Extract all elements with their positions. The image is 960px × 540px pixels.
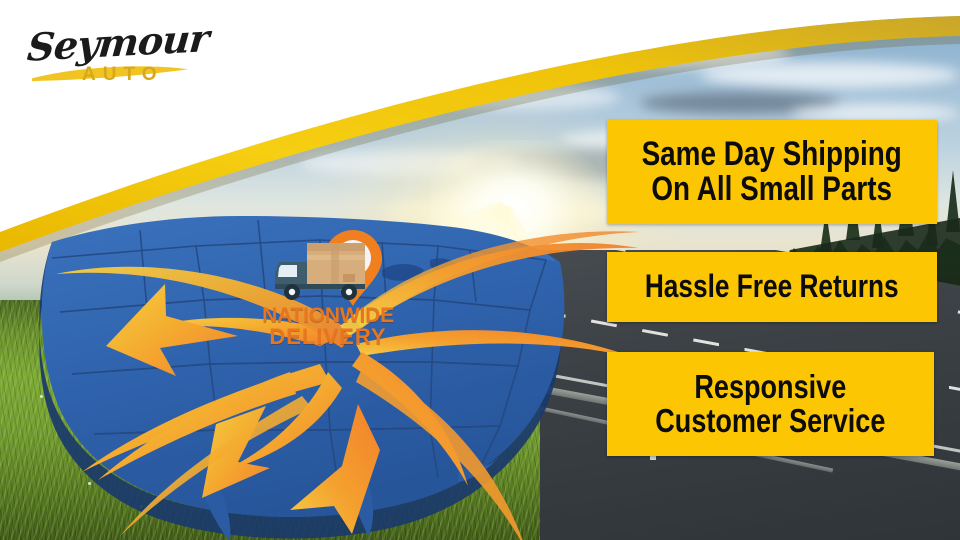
callout-responsive-customer-service[interactable]: Responsive Customer Service: [607, 352, 934, 456]
callout-same-day-shipping[interactable]: Same Day Shipping On All Small Parts: [607, 120, 937, 224]
callout-hassle-free-returns[interactable]: Hassle Free Returns: [607, 252, 937, 322]
promo-banner: Seymour AUTO: [0, 0, 960, 540]
nationwide-delivery-label: NATIONWIDE DELIVERY: [253, 305, 403, 349]
delivery-truck-graphic: [265, 222, 395, 317]
callout-text: Hassle Free Returns: [645, 270, 899, 303]
logo-subtitle: AUTO: [82, 64, 163, 86]
nationwide-line-2: DELIVERY: [253, 326, 403, 348]
callout-text: Responsive Customer Service: [655, 370, 885, 439]
callout-text: Same Day Shipping On All Small Parts: [642, 137, 902, 208]
nationwide-line-1: NATIONWIDE: [253, 305, 403, 326]
brand-logo[interactable]: Seymour AUTO: [18, 14, 208, 100]
truck-cargo-box: [307, 243, 365, 285]
truck-cab: [275, 262, 307, 285]
